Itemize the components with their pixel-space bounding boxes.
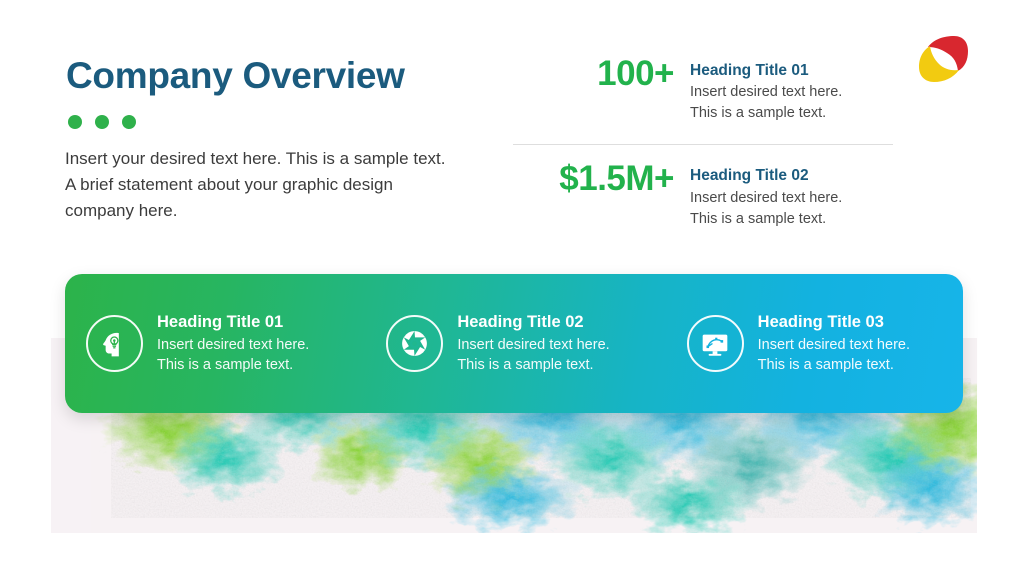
decor-dot-1	[68, 115, 82, 129]
feature-card-line-1: Insert desired text here.	[758, 335, 910, 355]
feature-card-heading: Heading Title 03	[758, 312, 910, 333]
feature-card-body: Heading Title 02 Insert desired text her…	[457, 312, 609, 374]
lead-paragraph: Insert your desired text here. This is a…	[65, 146, 457, 224]
stats-section: 100+ Heading Title 01 Insert desired tex…	[512, 56, 894, 230]
page-title: Company Overview	[66, 57, 405, 96]
stat-line-1: Insert desired text here.	[690, 82, 842, 103]
slide-canvas: Company Overview Insert your desired tex…	[0, 0, 1024, 576]
stat-item: 100+ Heading Title 01 Insert desired tex…	[512, 56, 894, 124]
stat-line-2: This is a sample text.	[690, 209, 842, 230]
stat-body: Heading Title 02 Insert desired text her…	[690, 161, 842, 229]
stat-body: Heading Title 01 Insert desired text her…	[690, 56, 842, 124]
feature-card-heading: Heading Title 02	[457, 312, 609, 333]
feature-card-line-2: This is a sample text.	[457, 355, 609, 375]
feature-card-heading: Heading Title 01	[157, 312, 309, 333]
decor-dot-3	[122, 115, 136, 129]
stat-line-2: This is a sample text.	[690, 103, 842, 124]
stat-heading: Heading Title 02	[690, 166, 842, 185]
stat-item: $1.5M+ Heading Title 02 Insert desired t…	[512, 161, 894, 229]
feature-card-line-1: Insert desired text here.	[157, 335, 309, 355]
stat-line-1: Insert desired text here.	[690, 188, 842, 209]
feature-card-body: Heading Title 01 Insert desired text her…	[157, 312, 309, 374]
decor-dot-2	[95, 115, 109, 129]
feature-card-1[interactable]: Heading Title 01 Insert desired text her…	[65, 312, 362, 374]
feature-card-line-1: Insert desired text here.	[457, 335, 609, 355]
stat-divider	[513, 144, 893, 145]
stat-value: 100+	[512, 56, 690, 91]
feature-banner: Heading Title 01 Insert desired text her…	[65, 274, 963, 413]
feature-card-2[interactable]: Heading Title 02 Insert desired text her…	[362, 312, 662, 374]
stat-heading: Heading Title 01	[690, 61, 842, 80]
head-lightbulb-icon	[86, 315, 143, 372]
feature-card-line-2: This is a sample text.	[157, 355, 309, 375]
stat-value: $1.5M+	[512, 161, 690, 196]
monitor-design-icon	[687, 315, 744, 372]
feature-card-body: Heading Title 03 Insert desired text her…	[758, 312, 910, 374]
company-logo-icon	[913, 30, 973, 88]
feature-card-3[interactable]: Heading Title 03 Insert desired text her…	[663, 312, 963, 374]
feature-card-line-2: This is a sample text.	[758, 355, 910, 375]
title-dot-decoration	[68, 115, 136, 129]
camera-aperture-icon	[386, 315, 443, 372]
